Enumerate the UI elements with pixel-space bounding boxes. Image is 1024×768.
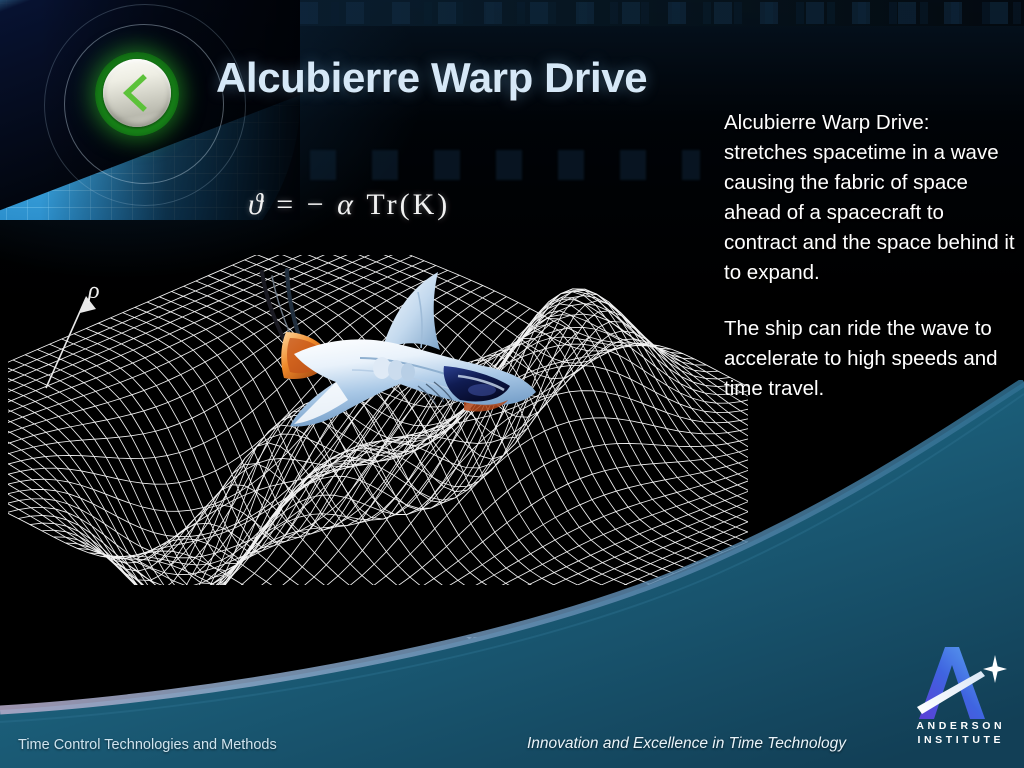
footer-left-text: Time Control Technologies and Methods xyxy=(18,737,277,753)
logo-wordmark: ANDERSON INSTITUTE xyxy=(903,719,1015,747)
logo-word-line2: INSTITUTE xyxy=(903,733,1015,747)
equation-alpha: α xyxy=(337,188,356,221)
page-title: Alcubierre Warp Drive xyxy=(216,54,647,102)
anderson-institute-logo: ANDERSON INSTITUTE xyxy=(903,645,1015,753)
back-button-face xyxy=(103,59,171,127)
slide-canvas: Alcubierre Warp Drive ϑ = − α Tr(K) xyxy=(0,0,1024,768)
logo-mark-icon xyxy=(911,645,1007,721)
equation-trace-k: Tr(K) xyxy=(366,188,450,221)
logo-star-icon xyxy=(983,655,1007,683)
rho-axis-arrow xyxy=(46,296,96,388)
equation-theta: ϑ xyxy=(248,188,266,221)
swoosh-fill xyxy=(0,382,1024,768)
logo-word-line1: ANDERSON xyxy=(903,719,1015,733)
back-button[interactable] xyxy=(95,52,179,136)
chevron-left-icon xyxy=(116,72,158,114)
equation-minus: − xyxy=(307,188,327,221)
equation-equals: = xyxy=(276,188,296,221)
footer-swoosh-band xyxy=(0,380,1024,768)
footer-tagline: Innovation and Excellence in Time Techno… xyxy=(527,735,846,753)
body-text: Alcubierre Warp Drive: stretches spaceti… xyxy=(724,108,1016,404)
body-paragraph-1: Alcubierre Warp Drive: stretches spaceti… xyxy=(724,108,1016,288)
rho-axis-label: ρ xyxy=(88,278,100,305)
warp-equation: ϑ = − α Tr(K) xyxy=(248,188,450,222)
